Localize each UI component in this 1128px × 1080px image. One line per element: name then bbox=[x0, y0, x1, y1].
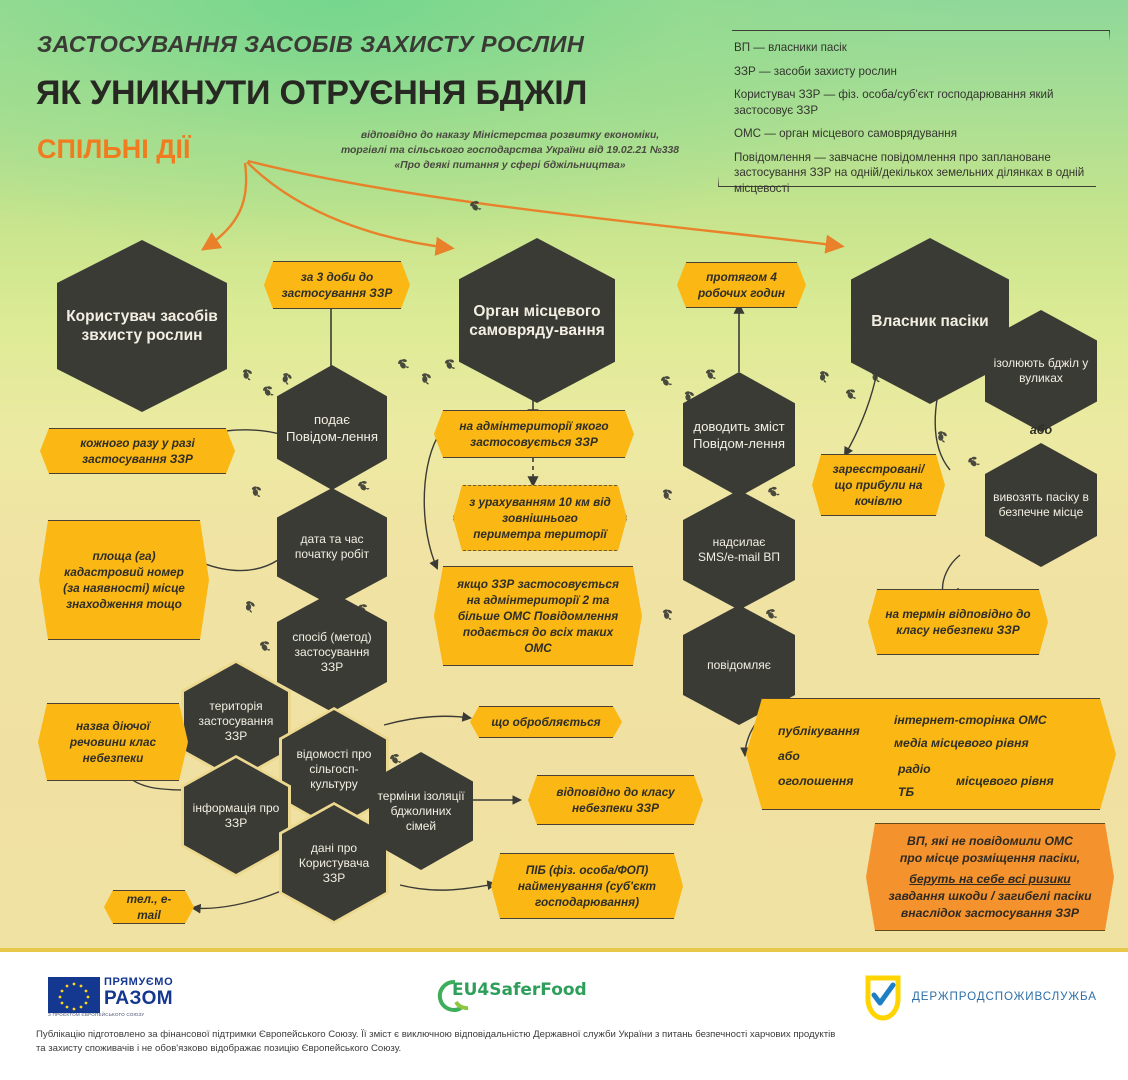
callout-term-hazard-class: на термін відповідно до класу небезпеки … bbox=[868, 589, 1048, 655]
footer bbox=[0, 948, 1128, 1080]
callout-rail-top bbox=[48, 520, 200, 521]
callout-two-or-more-oms-label: якщо ЗЗР застосовується на адмінтериторі… bbox=[450, 576, 626, 656]
callout-rail-top bbox=[47, 703, 179, 704]
callout-hazard-class-terms: відповідно до класу небезпеки ЗЗР bbox=[528, 775, 703, 825]
callout-rail-bottom bbox=[48, 639, 200, 640]
callout-area-data: площа (га) кадастровий номер (за наявнос… bbox=[39, 520, 209, 640]
step-hex-method-label: спосіб (метод) застосування ЗЗР bbox=[277, 630, 387, 675]
callout-processed: що обробляється bbox=[470, 706, 622, 738]
announce-label: оголошення bbox=[778, 774, 853, 788]
callout-active-substance: назва діючої речовини клас небезпеки bbox=[38, 703, 188, 781]
callout-each-time-label: кожного разу у разі застосування ЗЗР bbox=[56, 435, 219, 467]
callout-each-time: кожного разу у разі застосування ЗЗР bbox=[40, 428, 235, 474]
publish-branch-tv: ТБ bbox=[898, 785, 914, 799]
page-title: ЯК УНИКНУТИ ОТРУЄННЯ БДЖІЛ bbox=[36, 74, 587, 113]
callout-deadline-3-days-label: за 3 доби до застосування ЗЗР bbox=[280, 269, 394, 301]
step-hex-send-sms-label: надсилає SMS/e-mail ВП bbox=[683, 535, 795, 565]
callout-rail-bottom bbox=[47, 780, 179, 781]
law-line-1: відповідно до наказу Міністерства розвит… bbox=[330, 128, 690, 143]
warning-line-2: про місце розміщення пасіки, bbox=[900, 850, 1080, 867]
supertitle: ЗАСТОСУВАННЯ ЗАСОБІВ ЗАХИСТУ РОСЛИН bbox=[37, 31, 584, 58]
callout-rail-bottom bbox=[537, 824, 694, 825]
warning-line-3: беруть на себе всі ризики bbox=[909, 871, 1070, 888]
callout-rail-bottom bbox=[686, 307, 797, 308]
callout-rail-top bbox=[49, 428, 226, 429]
publish-branch-website: інтернет-сторінка ОМС bbox=[894, 713, 1047, 727]
callout-rail-bottom bbox=[443, 665, 633, 666]
callout-phone-email-label: тел., e-mail bbox=[120, 891, 178, 923]
callout-registered-arrived: зареєстровані/ що прибули на кочівлю bbox=[812, 454, 945, 516]
legend-item-zzr: ЗЗР — засоби захисту рослин bbox=[734, 64, 1092, 80]
step-hex-submit-notice-label: подає Повідом-лення bbox=[277, 411, 387, 445]
step-hex-move-apiary-label: вивозять пасіку в безпечне місце bbox=[985, 490, 1097, 520]
step-hex-territory-label: територія застосування ЗЗР bbox=[184, 699, 288, 744]
callout-registered-arrived-label: зареєстровані/ що прибули на кочівлю bbox=[828, 461, 929, 509]
callout-rail-bottom bbox=[443, 457, 625, 458]
callout-rail-bottom bbox=[113, 923, 185, 924]
callout-term-hazard-class-label: на термін відповідно до класу небезпеки … bbox=[884, 606, 1032, 638]
connector-label-or: або bbox=[1013, 423, 1069, 437]
eu4saferfood-logo-text: EU4SaferFood bbox=[452, 980, 587, 1000]
legend-panel: ВП — власники пасік ЗЗР — засоби захисту… bbox=[718, 30, 1108, 185]
callout-rail-bottom bbox=[479, 737, 613, 738]
warning-line-4: завдання шкоди / загибелі пасіки bbox=[888, 888, 1091, 905]
callout-rail-top bbox=[875, 823, 1105, 824]
callout-rail-bottom bbox=[273, 308, 401, 309]
callout-rail-top bbox=[273, 261, 401, 262]
step-hex-convey-content-label: доводить зміст Повідом-лення bbox=[683, 418, 795, 452]
callout-rail-top bbox=[443, 566, 633, 567]
step-hex-user-data-label: дані про Користувача ЗЗР bbox=[282, 841, 386, 886]
callout-rail-bottom bbox=[500, 918, 674, 919]
callout-rail-bottom bbox=[821, 515, 936, 516]
step-hex-zzr-info-label: інформація про ЗЗР bbox=[184, 801, 288, 831]
publish-branch-local-suffix: місцевого рівня bbox=[956, 774, 1054, 788]
law-line-3: «Про деякі питання у сфері бджільництва» bbox=[330, 158, 690, 173]
callout-phone-email: тел., e-mail bbox=[104, 890, 194, 924]
callout-area-data-label: площа (га) кадастровий номер (за наявнос… bbox=[55, 548, 193, 612]
accent-title: СПІЛЬНІ ДІЇ bbox=[37, 134, 190, 165]
callout-pib: ПІБ (фіз. особа/ФОП) найменування (суб'є… bbox=[491, 853, 683, 919]
callout-hazard-class-terms-label: відповідно до класу небезпеки ЗЗР bbox=[544, 784, 687, 816]
step-hex-isolate-bees-label: ізолюють бджіл у вуликах bbox=[985, 356, 1097, 386]
callout-rail-top bbox=[537, 775, 694, 776]
disclaimer-line-2: та захисту споживачів і не обов'язково в… bbox=[36, 1042, 1096, 1056]
callout-rail-bottom bbox=[762, 809, 1100, 810]
legend-item-oms: ОМС — орган місцевого самоврядування bbox=[734, 126, 1092, 142]
callout-rail-bottom bbox=[49, 473, 226, 474]
actor-hex-omc-label: Орган місцевого самовряду-вання bbox=[459, 302, 615, 340]
callout-publication-channels: публікування або оголошення інтернет-сто… bbox=[746, 698, 1116, 810]
callout-rail-top bbox=[443, 410, 625, 411]
eu-logo-line1: ПРЯМУЄМО bbox=[104, 976, 173, 988]
actor-hex-user-label: Користувач засобів звхисту рослин bbox=[57, 307, 227, 345]
law-line-2: торгівлі та сільського господарства Укра… bbox=[330, 143, 690, 158]
callout-rail-top bbox=[113, 890, 185, 891]
legend-item-notice: Повідомлення — завчасне повідомлення про… bbox=[734, 150, 1092, 197]
callout-rail-top bbox=[877, 589, 1039, 590]
callout-processed-label: що обробляється bbox=[491, 714, 600, 730]
callout-admin-territory-label: на адмінтериторії якого застосовується З… bbox=[450, 418, 618, 450]
callout-rail-bottom bbox=[877, 654, 1039, 655]
step-hex-informs-label: повідомляє bbox=[699, 658, 779, 673]
publish-or-label: або bbox=[778, 749, 800, 763]
warning-line-1: ВП, які не повідомили ОМС bbox=[907, 833, 1073, 850]
callout-deadline-4-hours: протягом 4 робочих годин bbox=[677, 262, 806, 308]
callout-rail-top bbox=[821, 454, 936, 455]
eu-logo-line2: РАЗОМ bbox=[104, 988, 173, 1010]
derzhprodspozhyvsluzhba-label: ДЕРЖПРОДСПОЖИВСЛУЖБА bbox=[912, 990, 1097, 1003]
legend-item-user: Користувач ЗЗР — фіз. особа/суб'єкт госп… bbox=[734, 87, 1092, 118]
law-reference: відповідно до наказу Міністерства розвит… bbox=[330, 128, 690, 173]
warning-line-5: внаслідок застосування ЗЗР bbox=[901, 905, 1079, 922]
publish-label: публікування bbox=[778, 724, 860, 738]
publish-branch-radio: радіо bbox=[898, 762, 931, 776]
callout-deadline-4-hours-label: протягом 4 робочих годин bbox=[693, 269, 790, 301]
callout-ten-km: з урахуванням 10 км від зовнішнього пери… bbox=[453, 485, 627, 551]
footer-disclaimer: Публікацію підготовлено за фінансової пі… bbox=[36, 1028, 1096, 1056]
eu-logo-small: З ПРОЄКТОМ ЄВРОПЕЙСЬКОГО СОЮЗУ bbox=[48, 1012, 144, 1017]
callout-admin-territory: на адмінтериторії якого застосовується З… bbox=[434, 410, 634, 458]
callout-rail-top bbox=[686, 262, 797, 263]
callout-ten-km-label: з урахуванням 10 км від зовнішнього пери… bbox=[469, 494, 611, 542]
legend-item-vp: ВП — власники пасік bbox=[734, 40, 1092, 56]
callout-deadline-3-days: за 3 доби до застосування ЗЗР bbox=[264, 261, 410, 309]
disclaimer-line-1: Публікацію підготовлено за фінансової пі… bbox=[36, 1028, 1096, 1042]
step-hex-datetime-label: дата та час початку робіт bbox=[277, 532, 387, 562]
publish-branch-media: медіа місцевого рівня bbox=[894, 736, 1029, 750]
callout-rail-top bbox=[762, 698, 1100, 699]
callout-pib-label: ПІБ (фіз. особа/ФОП) найменування (суб'є… bbox=[507, 862, 667, 910]
callout-rail-top bbox=[479, 706, 613, 707]
actor-hex-beekeeper-label: Власник пасіки bbox=[863, 312, 996, 331]
callout-warning-risk: ВП, які не повідомили ОМС про місце розм… bbox=[866, 823, 1114, 931]
step-hex-isolation-terms-label: терміни ізоляції бджолиних сімей bbox=[369, 789, 473, 834]
callout-rail-top bbox=[500, 853, 674, 854]
callout-active-substance-label: назва діючої речовини клас небезпеки bbox=[54, 718, 172, 766]
callout-two-or-more-oms: якщо ЗЗР застосовується на адмінтериторі… bbox=[434, 566, 642, 666]
callout-rail-bottom bbox=[875, 930, 1105, 931]
